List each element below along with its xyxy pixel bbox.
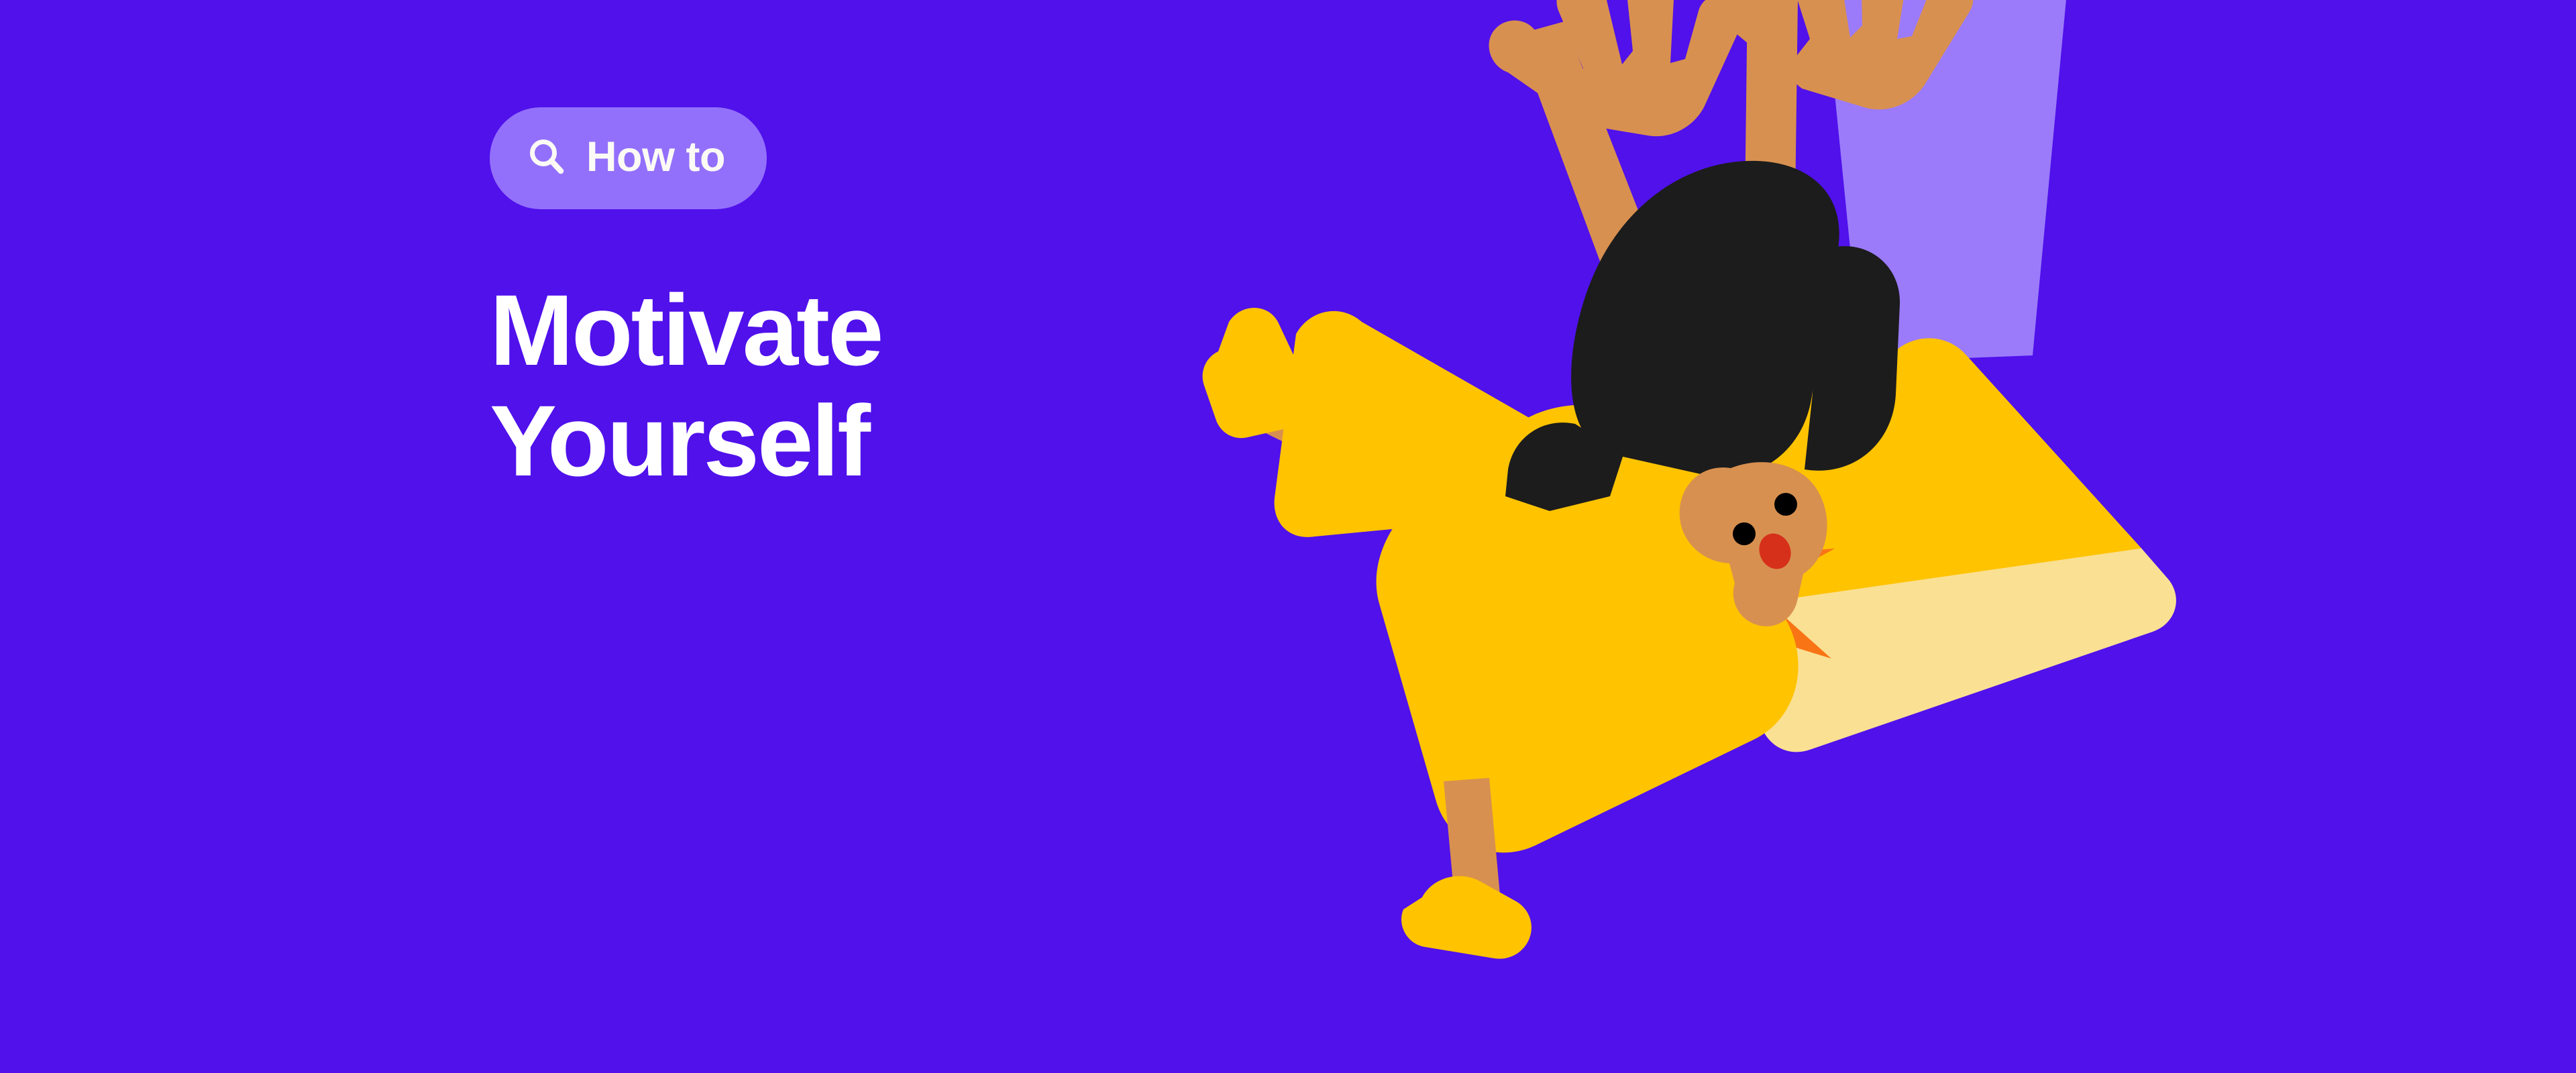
hero-banner: How to Motivate Yourself: [0, 0, 2576, 1073]
hero-text-column: How to Motivate Yourself: [490, 107, 1228, 496]
hero-illustration: [1140, 0, 2281, 1073]
person-eye-left: [1733, 522, 1756, 545]
person-right-shoe: [1401, 876, 1532, 958]
page-title: Motivate Yourself: [490, 209, 1228, 496]
person-hair-group: [1505, 161, 1900, 511]
person-left-hand: [1489, 0, 1742, 136]
page-title-line-2: Yourself: [490, 386, 1228, 496]
how-to-badge-label: How to: [586, 136, 725, 178]
person-eye-right: [1774, 493, 1797, 516]
search-icon: [526, 136, 568, 178]
how-to-badge[interactable]: How to: [490, 107, 767, 209]
page-title-line-1: Motivate: [490, 275, 1228, 386]
